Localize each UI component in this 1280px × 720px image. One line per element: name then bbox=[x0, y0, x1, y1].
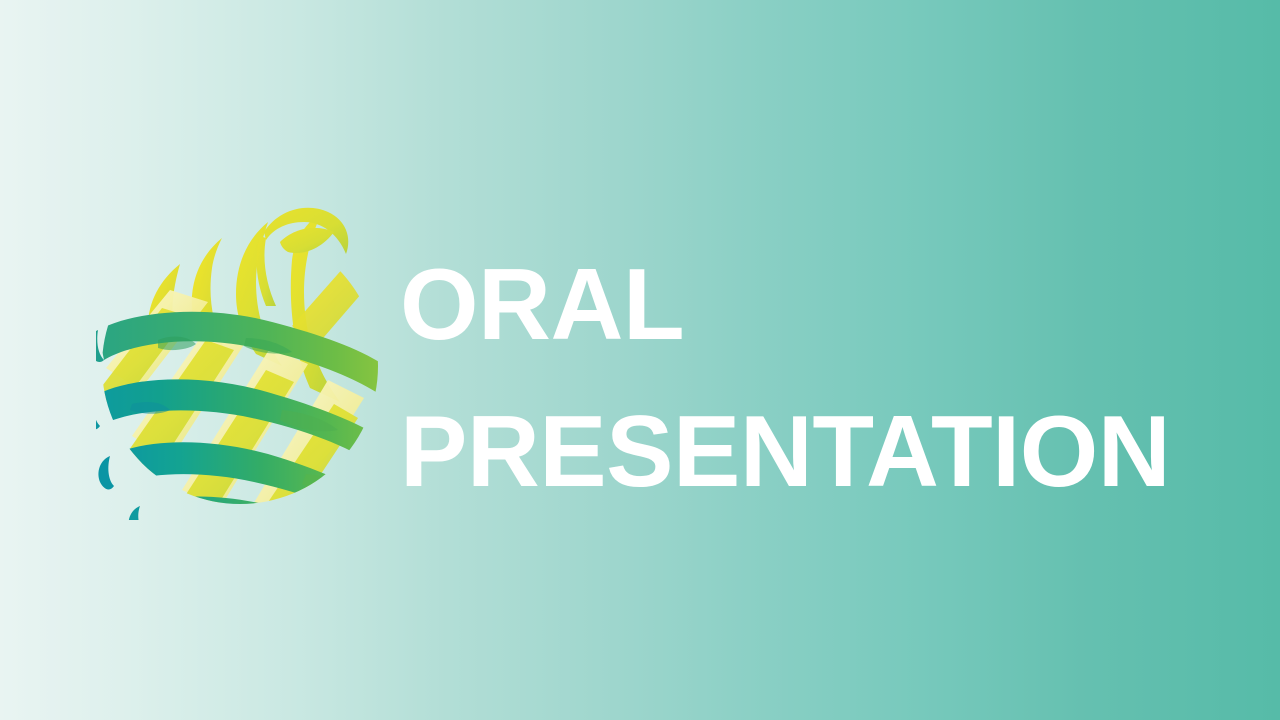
presentation-slide: ORAL PRESENTATION bbox=[0, 0, 1280, 720]
globe-ribbon-logo bbox=[96, 198, 384, 520]
title-line-oral: ORAL bbox=[400, 232, 1240, 379]
slide-title-block: ORAL PRESENTATION bbox=[400, 232, 1240, 526]
title-line-presentation: PRESENTATION bbox=[400, 379, 1240, 526]
